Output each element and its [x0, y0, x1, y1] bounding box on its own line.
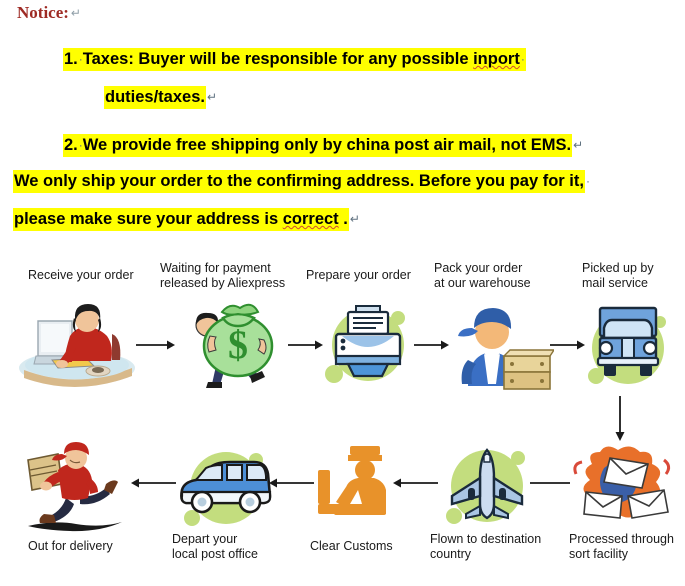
step-label-clear-customs: Clear Customs [310, 539, 440, 554]
step-label-sort-facility: Processed throughsort facility [569, 532, 685, 561]
customs-officer-icon [312, 440, 408, 528]
delivery-van-icon [172, 440, 280, 532]
mail-truck-icon [578, 298, 678, 393]
space-mark-icon: · [521, 52, 525, 66]
notice-heading-text: Notice: [17, 3, 69, 22]
flow-arrow-left [130, 476, 176, 494]
notice-line-2: 2.·We provide free shipping only by chin… [63, 132, 583, 158]
warehouse-worker-icon [444, 298, 554, 393]
step-label-pack-order: Pack your orderat our warehouse [434, 261, 564, 290]
shipping-process-flowchart: Receive your order Waiting for paymentre… [0, 250, 685, 586]
notice-line-3-body: We only ship your order to the confirmin… [13, 170, 585, 193]
step-label-depart-post-office: Depart yourlocal post office [172, 532, 302, 561]
paragraph-mark-icon: ↵ [573, 138, 583, 152]
notice-line-1b-body: duties/taxes. [104, 86, 206, 109]
notice-line-2-number: 2. [64, 136, 78, 154]
step-label-prepare-order: Prepare your order [306, 268, 441, 283]
notice-line-2-body: We provide free shipping only by china p… [83, 136, 571, 154]
notice-line-1-continued: duties/taxes.↵ [104, 84, 217, 110]
space-mark-icon: · [586, 174, 590, 188]
paragraph-mark-icon: ↵ [71, 6, 81, 20]
step-label-flown-to-destination: Flown to destinationcountry [430, 532, 570, 561]
notice-line-4-misspelled: correct [283, 210, 339, 228]
notice-line-4-suffix: . [339, 210, 348, 228]
flow-arrow-right [136, 338, 176, 356]
paragraph-mark-icon: ↵ [350, 212, 360, 226]
notice-line-1-body: Taxes: Buyer will be responsible for any… [83, 50, 473, 68]
notice-line-1-number: 1. [64, 50, 78, 68]
notice-line-1-misspelled: inport [473, 50, 520, 68]
money-bag-icon: $ [178, 292, 288, 392]
svg-text:$: $ [228, 322, 248, 367]
notice-line-4: please make sure your address is correct… [13, 206, 360, 232]
step-label-receive-order: Receive your order [28, 268, 168, 283]
notice-line-3: We only ship your order to the confirmin… [13, 168, 590, 194]
notice-line-1: 1.·Taxes: Buyer will be responsible for … [63, 46, 526, 72]
page-title: Notice:↵ [17, 3, 81, 23]
running-courier-icon [14, 436, 136, 536]
step-label-out-for-delivery: Out for delivery [28, 539, 168, 554]
airplane-icon [436, 438, 538, 532]
step-label-waiting-payment: Waiting for paymentreleased by Aliexpres… [160, 261, 300, 290]
step-label-picked-up: Picked up bymail service [582, 261, 685, 290]
person-at-computer-icon [14, 298, 144, 393]
notice-line-4-body: please make sure your address is [14, 210, 283, 228]
paragraph-mark-icon: ↵ [207, 90, 217, 104]
mail-bundle-icon [570, 440, 676, 528]
shipping-notice-page: { "notice": { "heading": "Notice:", "hea… [0, 0, 685, 586]
printer-icon [318, 298, 418, 393]
